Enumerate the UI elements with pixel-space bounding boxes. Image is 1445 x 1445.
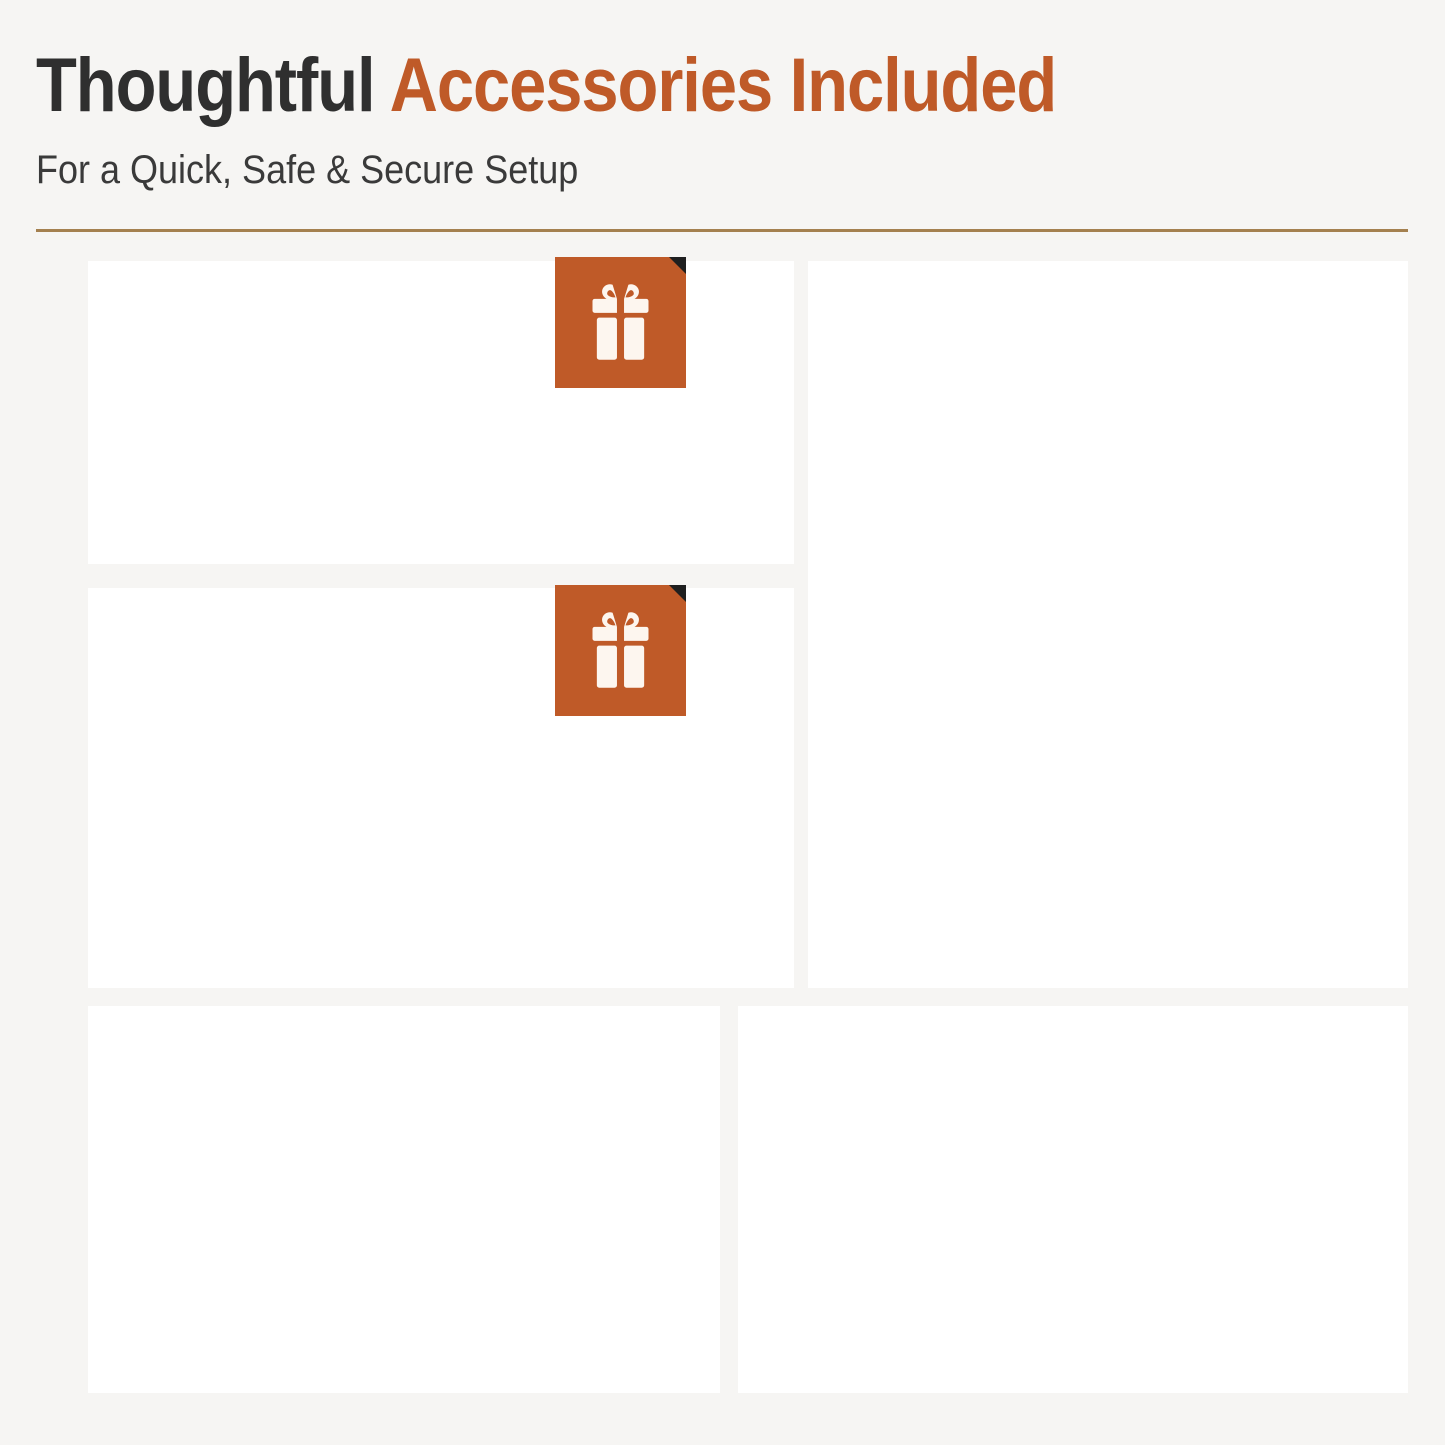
page-title-part-1: Thoughtful [36, 43, 390, 128]
card-anti-slip-foot-caps: Anti-Slip Foot Caps Adds Stability & Pro… [808, 261, 1408, 988]
white-knit-gloves-photo [200, 561, 510, 564]
badge-corner-fold [669, 257, 686, 274]
gift-icon [577, 279, 664, 366]
card-rubber-mallet: Rubber Mallet For Damage-Free Assembly [88, 588, 794, 988]
header-divider [36, 229, 1408, 232]
card-protective-gloves: Protective Gloves For Safe & Easy Handli… [88, 261, 794, 564]
page-title: Thoughtful Accessories Included [36, 44, 1056, 128]
page-title-part-2: Accessories Included [390, 43, 1057, 128]
gift-badge-mallet [555, 585, 686, 716]
badge-corner-fold [669, 585, 686, 602]
card-unit-connectors: Unit Connectors Expand Your Storage Syst… [88, 1006, 720, 1393]
gift-badge-gloves [555, 257, 686, 388]
page-subtitle: For a Quick, Safe & Secure Setup [36, 146, 578, 194]
gift-icon [577, 607, 664, 694]
header: Thoughtful Accessories Included For a Qu… [0, 0, 1445, 240]
card-safety-wall-mount: Safety Wall Mount To Prevent Accidental … [738, 1006, 1408, 1393]
